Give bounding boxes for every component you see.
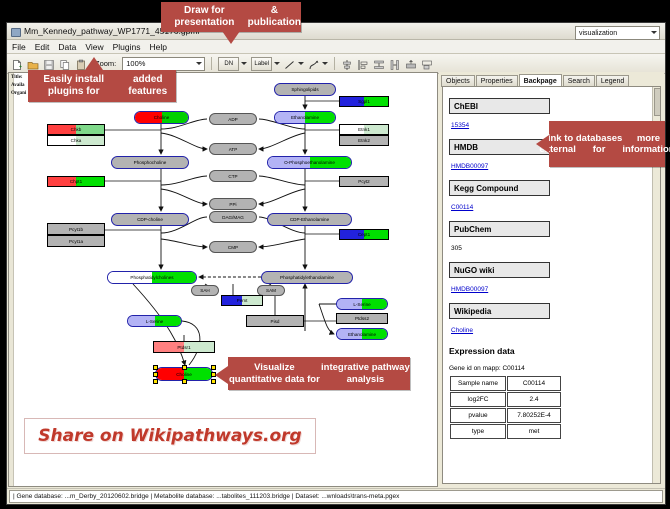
- menu-bar: File Edit Data View Plugins Help: [7, 40, 665, 54]
- align-left-icon[interactable]: [357, 58, 369, 70]
- status-bar: | Gene database: ...m_Derby_20120602.bri…: [7, 488, 665, 504]
- cell-value: C00114: [507, 376, 561, 391]
- scrollbar-thumb[interactable]: [654, 88, 661, 116]
- pathway-node-cdp_ethanolamine[interactable]: CDP-Ethanolamine: [267, 213, 352, 226]
- pathway-node-sah[interactable]: SAH: [191, 285, 219, 296]
- db-value-pubchem: 305: [451, 245, 462, 252]
- db-link-hmdb[interactable]: HMDB00097: [451, 163, 488, 170]
- cell-key: pvalue: [450, 408, 506, 423]
- toolbar-separator: [334, 57, 335, 70]
- callout-line: integrative pathway analysis: [321, 362, 410, 384]
- gene-id-line: Gene id on mapp: C00114: [449, 365, 650, 372]
- node-label: Pcyt2: [358, 179, 370, 184]
- chevron-down-icon[interactable]: [196, 62, 202, 65]
- node-label: Etnk1: [358, 127, 370, 132]
- cell-value: met: [507, 424, 561, 439]
- db-header-nugo-wiki: NuGO wiki: [449, 262, 550, 278]
- db-link-chebi[interactable]: 15354: [451, 122, 469, 129]
- open-folder-icon[interactable]: [27, 58, 39, 70]
- db-header-wikipedia: Wikipedia: [449, 303, 550, 319]
- datanode-button[interactable]: DN: [218, 57, 239, 71]
- node-label: Chpt1: [70, 179, 82, 184]
- menu-item-help[interactable]: Help: [150, 42, 167, 52]
- pathway-node-chpt1[interactable]: Chpt1: [47, 176, 105, 187]
- expression-table: Sample name C00114 log2FC 2.4 pvalue 7.8…: [449, 375, 562, 440]
- node-label: Pisd: [271, 319, 280, 324]
- tab-label: Search: [568, 78, 590, 85]
- pathway-node-phosphocholine[interactable]: Phosphocholine: [111, 156, 189, 169]
- label-tool-group[interactable]: Label: [251, 57, 280, 71]
- node-label: ADP: [228, 117, 237, 122]
- chevron-down-icon[interactable]: [651, 31, 657, 34]
- db-header-kegg-compound: Kegg Compound: [449, 180, 550, 196]
- menu-item-file[interactable]: File: [12, 42, 26, 52]
- node-label: Ethanolamine: [291, 115, 319, 120]
- node-label: CMP: [228, 245, 238, 250]
- node-label: Ptdsr1: [177, 345, 190, 350]
- pathway-node-pisd[interactable]: Pisd: [246, 315, 304, 327]
- node-label: O-Phosphoethanolamine: [284, 160, 335, 165]
- zoom-value: 100%: [126, 59, 145, 68]
- pathway-node-ophosphoethanolamine[interactable]: O-Phosphoethanolamine: [267, 156, 352, 169]
- node-label: Phosphatidylcholines: [130, 275, 173, 280]
- pathway-node-dagmag[interactable]: DAG/MAG: [209, 211, 257, 223]
- node-label: SAH: [200, 288, 209, 293]
- distribute-vertical-icon[interactable]: [373, 58, 385, 70]
- pathway-node-etnk1[interactable]: Etnk1: [339, 124, 389, 135]
- selection-handle[interactable]: [153, 372, 158, 377]
- pathway-node-sphingolipids[interactable]: Sphingolipids: [274, 83, 336, 96]
- selection-handle[interactable]: [182, 365, 187, 370]
- node-label: Phosphocholine: [134, 160, 167, 165]
- tab-label: Properties: [481, 78, 513, 85]
- selection-handle[interactable]: [182, 379, 187, 384]
- pathway-node-ptdsr1[interactable]: Ptdsr1: [153, 341, 215, 353]
- cell-key: log2FC: [450, 392, 506, 407]
- callout-line: Easily install plugins for: [28, 74, 119, 98]
- chevron-down-icon[interactable]: [241, 62, 247, 65]
- cell-key: Sample name: [450, 376, 506, 391]
- expression-data-heading: Expression data: [449, 346, 650, 356]
- pathway-node-pemt[interactable]: Pemt: [221, 295, 263, 306]
- node-label: Pemt: [237, 298, 248, 303]
- chevron-down-icon[interactable]: [298, 62, 304, 65]
- app-icon: [11, 27, 20, 36]
- pathway-node-pcyt2[interactable]: Pcyt2: [339, 176, 389, 187]
- save-icon[interactable]: [43, 58, 55, 70]
- node-label: CTP: [228, 174, 237, 179]
- menu-item-view[interactable]: View: [85, 42, 103, 52]
- menu-item-plugins[interactable]: Plugins: [113, 42, 141, 52]
- node-label: PPi: [229, 202, 236, 207]
- pathway-node-lserine_left[interactable]: L-Serine: [127, 315, 182, 327]
- table-row: log2FC 2.4: [450, 392, 561, 407]
- line-tool-group[interactable]: [284, 58, 304, 70]
- callout-links: Link to externaldatabases formore inform…: [549, 121, 665, 167]
- node-label: Pcyt1b: [69, 227, 83, 232]
- node-label: Sgpl1: [358, 99, 370, 104]
- selection-handle[interactable]: [153, 379, 158, 384]
- pathway-node-phosphatidylcholines[interactable]: Phosphatidylcholines: [107, 271, 197, 284]
- callout-line: more information: [622, 133, 670, 155]
- db-link-kegg-compound[interactable]: C00114: [451, 204, 473, 211]
- node-label: Choline: [154, 115, 170, 120]
- chevron-down-icon[interactable]: [322, 62, 328, 65]
- pathway-node-atp[interactable]: ATP: [209, 143, 257, 155]
- visualization-value: visualization: [579, 30, 617, 37]
- node-label: Sphingolipids: [291, 87, 318, 92]
- align-center-icon[interactable]: [341, 58, 353, 70]
- callout-visualize-arrow-icon: [215, 366, 228, 384]
- pathway-node-chkb[interactable]: Chkb: [47, 124, 105, 135]
- distribute-horizontal-icon[interactable]: [389, 58, 401, 70]
- callout-line: added features: [119, 74, 176, 98]
- interaction-tool-group[interactable]: [308, 58, 328, 70]
- title-bar: Mm_Kennedy_pathway_WP1771_45176.gpml: [7, 23, 665, 40]
- node-label: Etnk2: [358, 138, 370, 143]
- node-label: Chkb: [71, 127, 82, 132]
- callout-share-text: Share on Wikipathways.org: [38, 426, 301, 446]
- selection-handle[interactable]: [153, 365, 158, 370]
- node-label: Ethanolamine: [348, 332, 376, 337]
- copy-icon[interactable]: [59, 58, 71, 70]
- menu-item-edit[interactable]: Edit: [35, 42, 50, 52]
- pathway-node-sgpl1[interactable]: Sgpl1: [339, 96, 389, 107]
- pathway-node-ethanolamine_top[interactable]: Ethanolamine: [274, 111, 336, 124]
- label-button[interactable]: Label: [251, 57, 272, 71]
- pathway-node-ptdss2[interactable]: Ptdss2: [336, 313, 388, 324]
- node-label: DAG/MAG: [222, 215, 244, 220]
- chevron-down-icon[interactable]: [274, 62, 280, 65]
- pathway-node-cept1[interactable]: Cept1: [339, 229, 389, 240]
- pathway-node-adp[interactable]: ADP: [209, 113, 257, 125]
- pathway-node-chka[interactable]: Chka: [47, 135, 105, 146]
- status-text: | Gene database: ...m_Derby_20120602.bri…: [9, 490, 663, 503]
- pathway-node-cmp[interactable]: CMP: [209, 241, 257, 253]
- callout-draw: Draw for presentation& publication: [161, 2, 301, 32]
- line-icon[interactable]: [284, 58, 296, 70]
- node-label: Phosphatidylethanolamine: [280, 275, 334, 280]
- callout-plugins: Easily install plugins foradded features: [28, 70, 176, 102]
- toolbar-separator: [211, 57, 212, 70]
- cell-value: 2.4: [507, 392, 561, 407]
- pathway-node-lserine_right[interactable]: L-Serine: [336, 298, 388, 310]
- pathway-node-ethanolamine_bottom[interactable]: Ethanolamine: [336, 328, 388, 340]
- pathway-node-pcyt1b[interactable]: Pcyt1b: [47, 223, 105, 235]
- pathway-node-pcyt1a[interactable]: Pcyt1a: [47, 235, 105, 247]
- node-label: Ptdss2: [355, 316, 369, 321]
- table-row: type met: [450, 424, 561, 439]
- db-header-chebi: ChEBI: [449, 98, 550, 114]
- screenshot-root: Mm_Kennedy_pathway_WP1771_45176.gpml Fil…: [0, 0, 670, 509]
- db-link-nugo-wiki[interactable]: HMDB00097: [451, 286, 488, 293]
- pathway-node-cdp_choline[interactable]: CDP-choline: [111, 213, 189, 226]
- new-file-icon[interactable]: [11, 58, 23, 70]
- node-label: L-Serine: [146, 319, 163, 324]
- db-header-pubchem: PubChem: [449, 221, 550, 237]
- callout-draw-arrow-icon: [222, 31, 240, 44]
- tab-label: Objects: [446, 78, 470, 85]
- callout-line: & publication: [248, 5, 301, 29]
- node-label: Cept1: [358, 232, 370, 237]
- node-label: Choline: [176, 372, 192, 377]
- node-label: Chka: [71, 138, 82, 143]
- db-link-wikipedia[interactable]: Choline: [451, 327, 473, 334]
- pathway-node-choline_top[interactable]: Choline: [134, 111, 189, 124]
- bring-to-front-icon[interactable]: [405, 58, 417, 70]
- db-header-hmdb: HMDB: [449, 139, 550, 155]
- datanode-tool-group[interactable]: DN: [218, 57, 247, 71]
- callout-line: Draw for presentation: [161, 5, 248, 29]
- callout-share: Share on Wikipathways.org: [24, 418, 316, 454]
- callout-links-arrow-icon: [536, 135, 549, 153]
- node-label: CDP-Ethanolamine: [290, 217, 329, 222]
- menu-item-data[interactable]: Data: [58, 42, 76, 52]
- tab-label: Legend: [601, 78, 624, 85]
- table-row: Sample name C00114: [450, 376, 561, 391]
- callout-line: Visualize quantitative data for: [228, 362, 321, 384]
- pathway-node-phosphatidylethanolamine[interactable]: Phosphatidylethanolamine: [261, 271, 353, 284]
- pathway-node-ppi[interactable]: PPi: [209, 198, 257, 210]
- node-label: Pcyt1a: [69, 239, 83, 244]
- pathway-node-ctp[interactable]: CTP: [209, 170, 257, 182]
- cell-key: type: [450, 424, 506, 439]
- zoom-combobox[interactable]: 100%: [122, 57, 205, 71]
- callout-plugins-arrow-icon: [85, 57, 103, 70]
- interaction-arrow-icon[interactable]: [308, 58, 320, 70]
- node-label: CDP-choline: [137, 217, 163, 222]
- node-label: SAM: [266, 288, 276, 293]
- cell-value: 7.80252E-4: [507, 408, 561, 423]
- node-label: ATP: [229, 147, 238, 152]
- callout-visualize: Visualize quantitative data forintegrati…: [228, 357, 410, 390]
- table-row: pvalue 7.80252E-4: [450, 408, 561, 423]
- callout-line: databases for: [576, 133, 622, 155]
- send-to-back-icon[interactable]: [421, 58, 433, 70]
- tab-label: Backpage: [524, 78, 557, 85]
- node-label: L-Serine: [353, 302, 370, 307]
- visualization-select[interactable]: visualization: [575, 26, 660, 40]
- pathway-node-etnk2[interactable]: Etnk2: [339, 135, 389, 146]
